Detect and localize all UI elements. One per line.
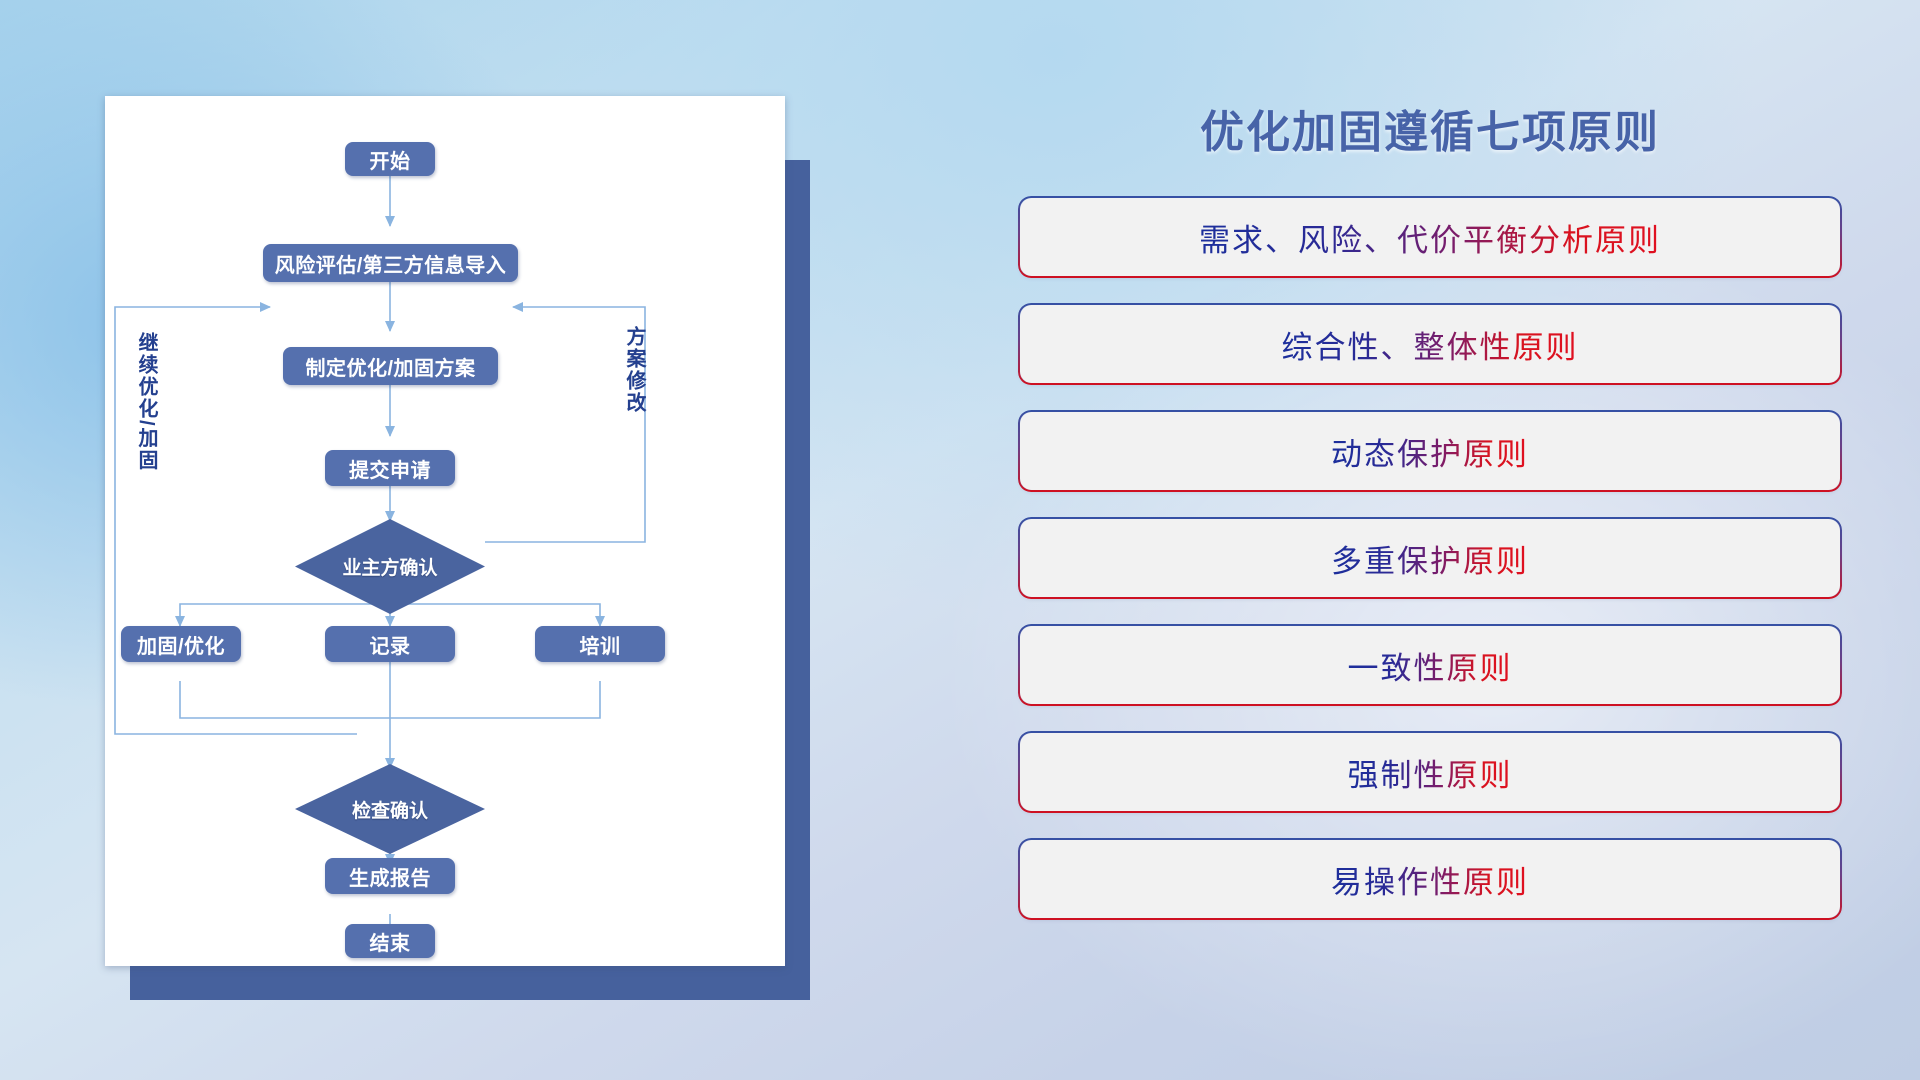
flow-node-label: 开始 [370, 145, 411, 174]
flow-node-end[interactable]: 结束 [345, 924, 435, 958]
flow-node-label: 提交申请 [349, 454, 431, 483]
principle-label: 综合性、整体性原则 [1282, 322, 1579, 367]
flow-node-owner-confirm[interactable]: 业主方确认 [295, 519, 485, 614]
flow-node-label: 培训 [580, 630, 621, 659]
principle-card-4[interactable]: 多重保护原则 [1020, 519, 1840, 597]
flow-node-label: 结束 [370, 927, 411, 956]
principle-card-3[interactable]: 动态保护原则 [1020, 412, 1840, 490]
principles-panel: 优化加固遵循七项原则 需求、风险、代价平衡分析原则 综合性、整体性原则 动态保护… [1020, 96, 1840, 996]
flow-node-record[interactable]: 记录 [325, 626, 455, 662]
principle-label: 易操作性原则 [1331, 857, 1529, 902]
principle-label: 多重保护原则 [1331, 536, 1529, 581]
principles-title: 优化加固遵循七项原则 [1020, 96, 1840, 160]
flow-node-inspection-confirm[interactable]: 检查确认 [295, 764, 485, 854]
flow-node-label: 记录 [370, 630, 411, 659]
flow-node-risk-assessment[interactable]: 风险评估/第三方信息导入 [263, 244, 518, 282]
principle-card-1[interactable]: 需求、风险、代价平衡分析原则 [1020, 198, 1840, 276]
principle-label: 动态保护原则 [1331, 429, 1529, 474]
principle-card-7[interactable]: 易操作性原则 [1020, 840, 1840, 918]
principle-card-5[interactable]: 一致性原则 [1020, 626, 1840, 704]
flow-node-generate-report[interactable]: 生成报告 [325, 858, 455, 894]
flow-node-label: 制定优化/加固方案 [305, 352, 475, 381]
principle-label: 一致性原则 [1348, 643, 1513, 688]
flow-node-start[interactable]: 开始 [345, 142, 435, 176]
flow-node-label: 生成报告 [349, 862, 431, 891]
edge-label-plan-revision: 方案修改 [623, 326, 644, 414]
flowchart-card: 开始 风险评估/第三方信息导入 制定优化/加固方案 提交申请 业主方确认 加固/… [105, 96, 785, 966]
flow-node-training[interactable]: 培训 [535, 626, 665, 662]
principle-label: 需求、风险、代价平衡分析原则 [1199, 215, 1661, 260]
edge-label-continue-optimize: 继续优化/加固 [135, 332, 156, 472]
flow-node-submit-application[interactable]: 提交申请 [325, 450, 455, 486]
principle-card-6[interactable]: 强制性原则 [1020, 733, 1840, 811]
flow-node-reinforce-optimize[interactable]: 加固/优化 [121, 626, 241, 662]
flow-node-label: 检查确认 [352, 796, 428, 823]
flow-node-label: 风险评估/第三方信息导入 [275, 249, 507, 278]
principle-card-2[interactable]: 综合性、整体性原则 [1020, 305, 1840, 383]
flow-node-make-plan[interactable]: 制定优化/加固方案 [283, 347, 498, 385]
flow-node-label: 业主方确认 [342, 553, 437, 580]
principle-label: 强制性原则 [1348, 750, 1513, 795]
flow-node-label: 加固/优化 [137, 630, 225, 659]
